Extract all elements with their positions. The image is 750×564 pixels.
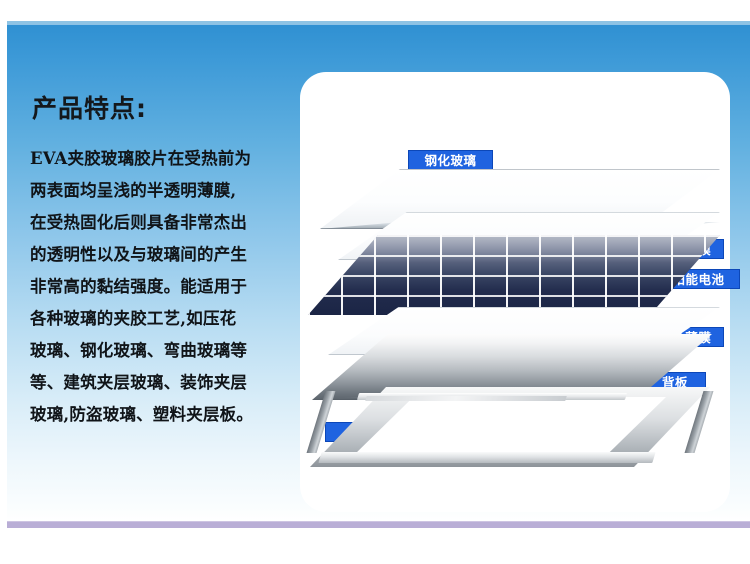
frame-bottom-rail xyxy=(318,452,655,463)
layer-solar-cell-matrix xyxy=(308,235,720,315)
label-tempered-glass: 钢化玻璃 xyxy=(408,150,493,170)
product-features-text-column: 产品特点: EVA夹胶玻璃胶片在受热前为 两表面均呈浅的半透明薄膜, 在受热固化… xyxy=(30,96,288,431)
junction-box-cable xyxy=(365,396,567,401)
blue-gradient-panel: 产品特点: EVA夹胶玻璃胶片在受热前为 两表面均呈浅的半透明薄膜, 在受热固化… xyxy=(7,24,750,522)
page-root: 产品特点: EVA夹胶玻璃胶片在受热前为 两表面均呈浅的半透明薄膜, 在受热固化… xyxy=(0,0,750,564)
solar-panel-exploded-diagram: 钢化玻璃 EVA薄膜 太阳能电池 EVA薄膜 背板 接线盒及电缆 抗腐蚀框架 xyxy=(300,72,750,512)
frame-left-rail xyxy=(307,391,336,453)
solar-cell-sheen xyxy=(308,235,720,315)
page-title: 产品特点: xyxy=(32,96,288,121)
bottom-accent-rule xyxy=(7,521,750,528)
product-description-text: EVA夹胶玻璃胶片在受热前为 两表面均呈浅的半透明薄膜, 在受热固化后则具备非常… xyxy=(30,143,288,431)
